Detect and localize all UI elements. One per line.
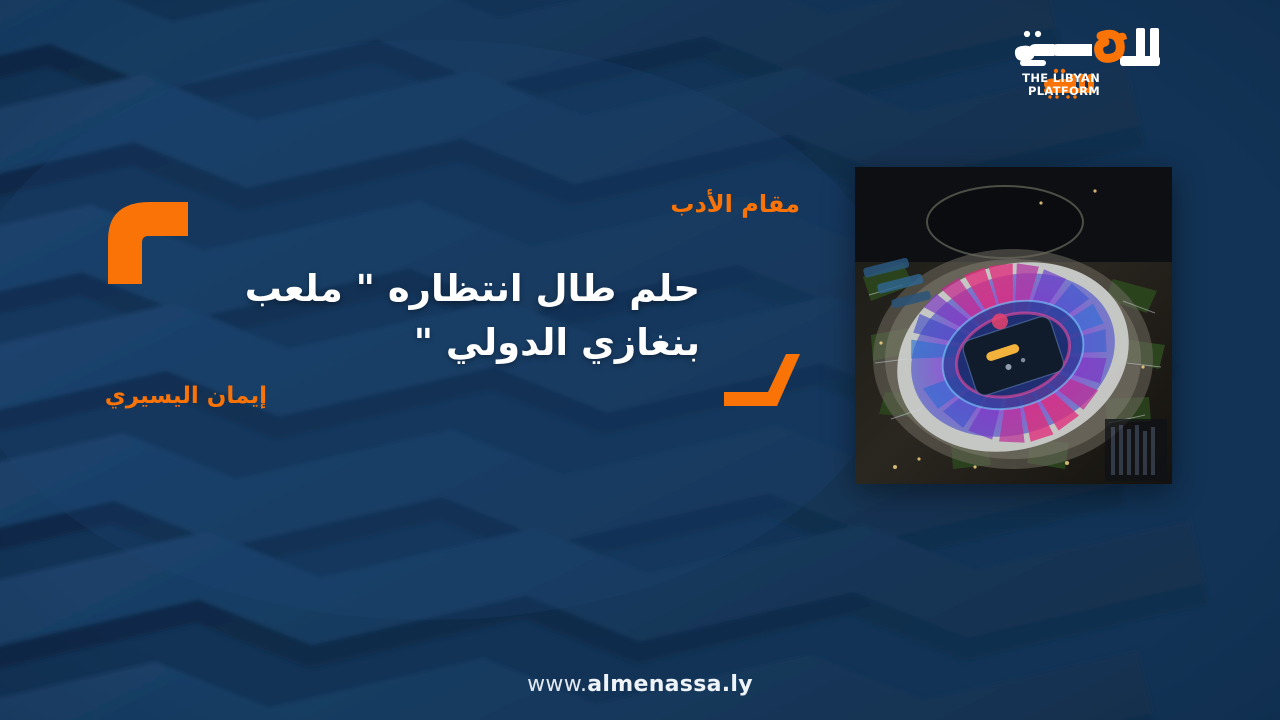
article-author: إيمان اليسيري <box>105 383 267 409</box>
card-content: مقام الأدب حلم طال انتظاره " ملعب بنغازي… <box>0 0 1280 720</box>
footer-website-url[interactable]: www.almenassa.ly <box>0 672 1280 697</box>
article-headline: حلم طال انتظاره " ملعب بنغازي الدولي " <box>155 262 700 369</box>
url-prefix: www. <box>527 672 587 697</box>
url-name: almenassa <box>587 672 721 697</box>
url-tld: .ly <box>722 672 753 697</box>
social-media-card: THE LIBYAN PLATFORM <box>0 0 1280 720</box>
article-category: مقام الأدب <box>670 190 800 218</box>
